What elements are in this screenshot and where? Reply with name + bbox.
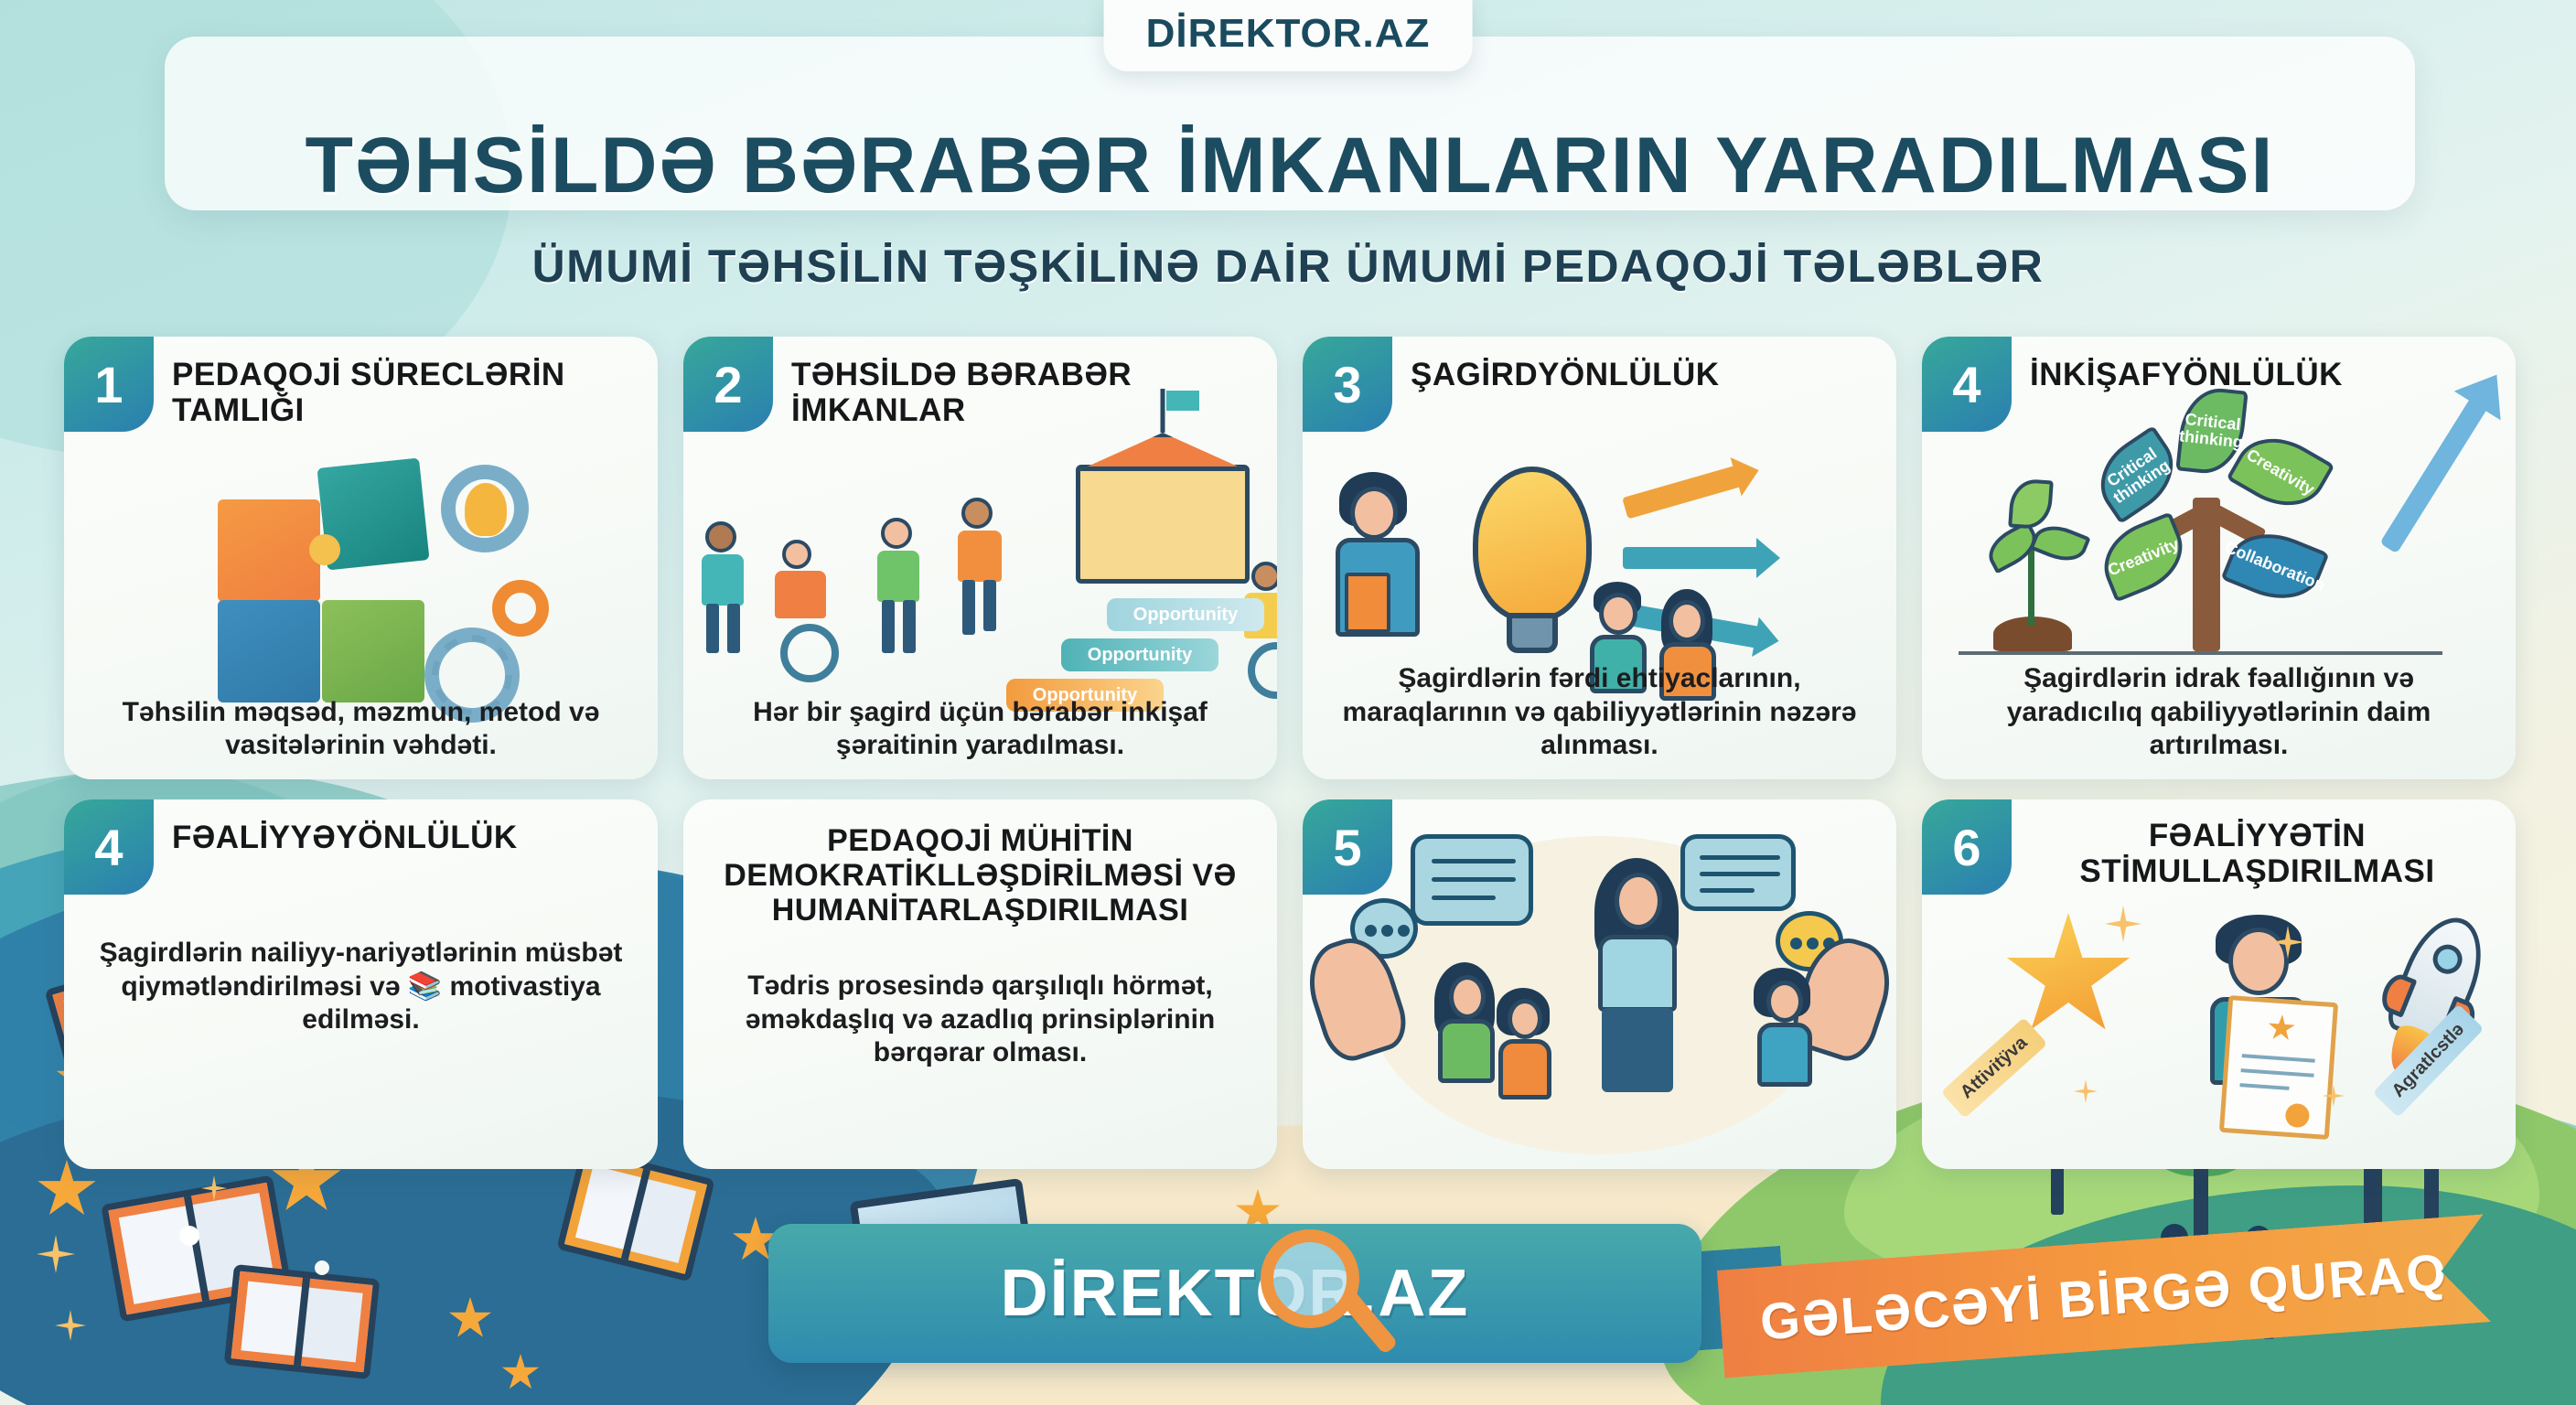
card-sagirdyonluluk[interactable]: 3 ŞAGİRDYÖNLÜLÜK xyxy=(1303,337,1896,779)
card-number-badge: 3 xyxy=(1303,337,1392,432)
card-grid: 1 PEDAQOJİ SÜRECLƏRİN TAMLIĞI Təhsilin m… xyxy=(64,337,2516,1169)
card-title: PEDAQOJİ SÜRECLƏRİN TAMLIĞI xyxy=(172,357,634,428)
card-title: FƏALİYYƏTİN STİMULLAŞDIRILMASI xyxy=(2023,818,2492,889)
card-row-bottom: 4 FƏALİYYƏYÖNLÜLÜK Şagirdlərin nailiyy-n… xyxy=(64,799,2516,1169)
card-title: ŞAGİRDYÖNLÜLÜK xyxy=(1411,357,1873,392)
card-tehsilde-beraber-imkanlar[interactable]: 2 TƏHSİLDƏ BƏRABƏR İMKANLAR xyxy=(683,337,1277,779)
card-description: Təhsilin məqsəd, məzmun, metod və vasitə… xyxy=(95,696,627,763)
card-number-badge: 6 xyxy=(1922,799,2012,895)
open-book-icon-4 xyxy=(224,1264,381,1379)
teacher-lightbulb-arrows-icon xyxy=(1303,445,1896,670)
speech-bubble-icon xyxy=(1680,834,1796,911)
card-fealiyyetin-stimullasdirilmasi[interactable]: 6 FƏALİYYƏTİN STİMULLAŞDIRILMASI xyxy=(1922,799,2516,1169)
card-title: FƏALİYYƏYÖNLÜLÜK xyxy=(172,820,634,855)
card-title: İNKİŞAFYÖNLÜLÜK xyxy=(2030,357,2492,392)
speech-bubble-icon xyxy=(1411,834,1533,926)
growth-arrow-icon xyxy=(2379,396,2488,554)
card-description: Tədris prosesində qarşılıqlı hörmət, əmə… xyxy=(714,970,1246,1070)
infographic-canvas: TƏHSİLDƏ BƏRABƏR İMKANLARIN YARADILMASI … xyxy=(0,0,2576,1405)
puzzle-gears-icon xyxy=(64,445,658,670)
card-inkisafyonluluk[interactable]: 4 İNKİŞAFYÖNLÜLÜK Critical thinking Crit… xyxy=(1922,337,2516,779)
dot-decoration xyxy=(315,1260,329,1275)
card-number-badge: 4 xyxy=(1922,337,2012,432)
inclusive-students-school-icon: Opportunity Opportunity Opportunity xyxy=(683,445,1277,670)
card-title: PEDAQOJİ MÜHİTİN DEMOKRATİKLLƏŞDİRİLMƏSİ… xyxy=(707,823,1253,928)
card-fealiyyeyonluluk[interactable]: 4 FƏALİYYƏYÖNLÜLÜK Şagirdlərin nailiyy-n… xyxy=(64,799,658,1169)
growth-tree-icon: Critical thinking Critical thinking Crea… xyxy=(1922,445,2516,670)
opportunity-step-2: Opportunity xyxy=(1061,638,1218,671)
card-pedaqoji-muhitin-demokratiklesdirilmesi[interactable]: PEDAQOJİ MÜHİTİN DEMOKRATİKLLƏŞDİRİLMƏSİ… xyxy=(683,799,1277,1169)
card-number-badge: 2 xyxy=(683,337,773,432)
card-dialogue-illustration[interactable]: 5 xyxy=(1303,799,1896,1169)
card-row-top: 1 PEDAQOJİ SÜRECLƏRİN TAMLIĞI Təhsilin m… xyxy=(64,337,2516,779)
card-description: Hər bir şagird üçün bərabər inkişaf şəra… xyxy=(714,696,1246,763)
card-pedagoji-sureclerin-tamligi[interactable]: 1 PEDAQOJİ SÜRECLƏRİN TAMLIĞI Təhsilin m… xyxy=(64,337,658,779)
award-rocket-icon: Attivitÿva Agratlcstlə xyxy=(1922,906,2516,1164)
card-description: Şagirdlərin fərdi ehtiyaclarının, maraql… xyxy=(1334,662,1865,763)
card-description: Şagirdlərin nailiyy-nariyətlərinin müsbə… xyxy=(95,937,627,1037)
sparkle-icon xyxy=(2105,906,2141,942)
page-title: TƏHSİLDƏ BƏRABƏR İMKANLARIN YARADILMASI xyxy=(165,121,2415,211)
card-description: Şagirdlərin idrak fəallığının və yaradıc… xyxy=(1953,662,2485,763)
certificate-icon xyxy=(2219,995,2338,1140)
footer-brand-banner[interactable]: DİREKTOR.AZ xyxy=(768,1224,1701,1363)
sparkle-icon xyxy=(2074,1079,2098,1103)
card-number-badge: 5 xyxy=(1303,799,1392,895)
opportunity-step-3: Opportunity xyxy=(1107,598,1264,631)
teacher-students-dialogue-icon xyxy=(1303,827,1896,1154)
footer-brand-text: DİREKTOR.AZ xyxy=(1001,1256,1470,1331)
dot-decoration xyxy=(179,1226,199,1246)
card-number-badge: 1 xyxy=(64,337,154,432)
card-number-badge: 4 xyxy=(64,799,154,895)
magnifier-icon xyxy=(1261,1229,1359,1328)
brand-badge[interactable]: DİREKTOR.AZ xyxy=(1104,0,1473,71)
page-subtitle: ÜMUMİ TƏHSİLİN TƏŞKİLİNƏ DAİR ÜMUMİ PEDA… xyxy=(0,240,2576,293)
ribbon-label-attivityva: Attivitÿva xyxy=(1941,1017,2048,1119)
leaf-critical-thinking: Critical thinking xyxy=(2085,425,2189,524)
brand-badge-label: DİREKTOR.AZ xyxy=(1146,11,1431,56)
